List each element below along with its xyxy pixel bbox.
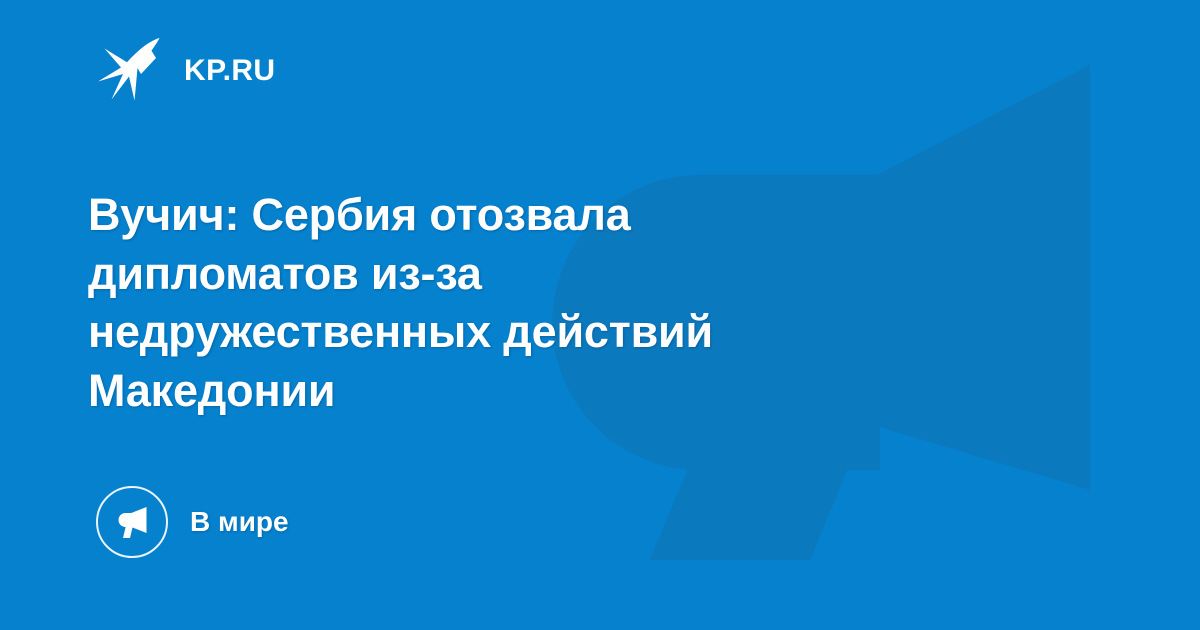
megaphone-icon	[113, 503, 151, 541]
headline-line-1: Вучич: Сербия отозвала	[88, 186, 948, 245]
swallow-bird-icon	[96, 36, 168, 102]
brand-wordmark: KP.RU	[184, 56, 275, 86]
site-logo[interactable]: KP.RU	[96, 36, 275, 102]
category-badge[interactable]: В мире	[96, 486, 289, 558]
headline-line-2: дипломатов из-за	[88, 245, 948, 304]
headline-line-4: Македонии	[88, 362, 948, 421]
headline-line-3: недружественных действий	[88, 303, 948, 362]
article-headline: Вучич: Сербия отозвала дипломатов из-за …	[88, 186, 948, 420]
category-icon-circle	[96, 486, 168, 558]
category-label: В мире	[190, 508, 289, 536]
article-share-card: KP.RU Вучич: Сербия отозвала дипломатов …	[0, 0, 1200, 630]
